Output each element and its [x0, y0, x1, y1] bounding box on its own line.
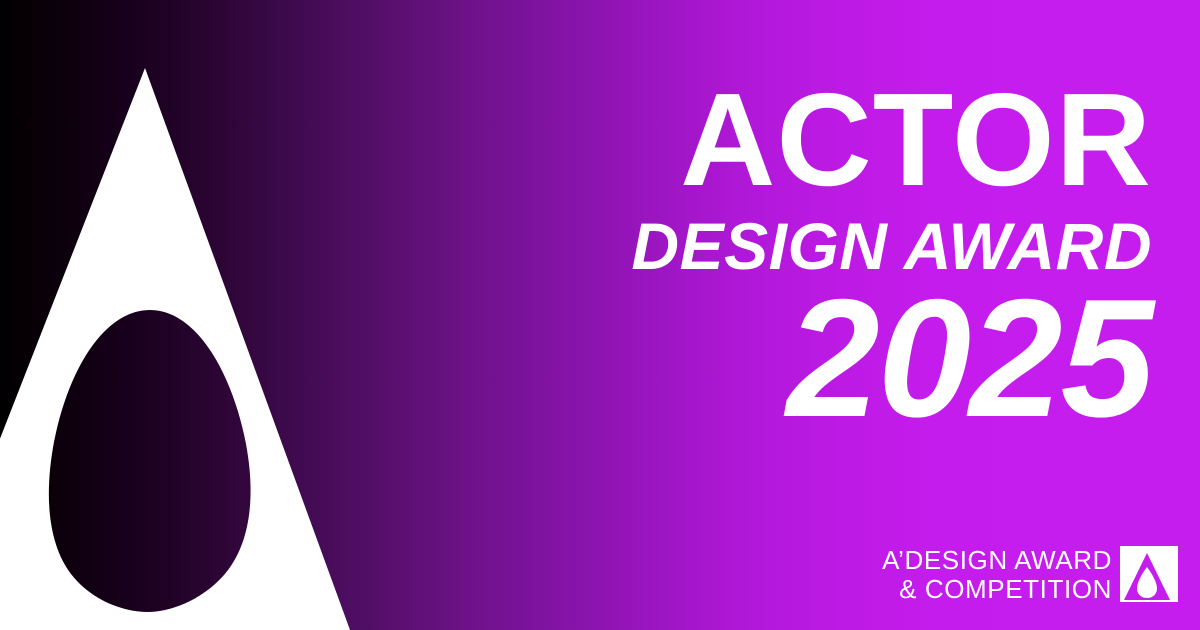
headline-block: ACTOR DESIGN AWARD 2025	[512, 74, 1152, 441]
award-logo: A’DESIGN AWARD & COMPETITION	[882, 546, 1178, 602]
award-logo-line-1: A’DESIGN AWARD	[882, 547, 1112, 573]
monogram-logo	[0, 0, 400, 630]
a-design-award-droplet-icon	[1120, 546, 1178, 602]
headline-year: 2025	[512, 276, 1152, 441]
page-title: ACTOR	[512, 74, 1152, 206]
award-logo-text: A’DESIGN AWARD & COMPETITION	[882, 547, 1112, 602]
award-banner: ACTOR DESIGN AWARD 2025 A’DESIGN AWARD &…	[0, 0, 1200, 630]
monogram-triangle	[0, 68, 350, 630]
award-logo-line-2: & COMPETITION	[882, 576, 1112, 602]
